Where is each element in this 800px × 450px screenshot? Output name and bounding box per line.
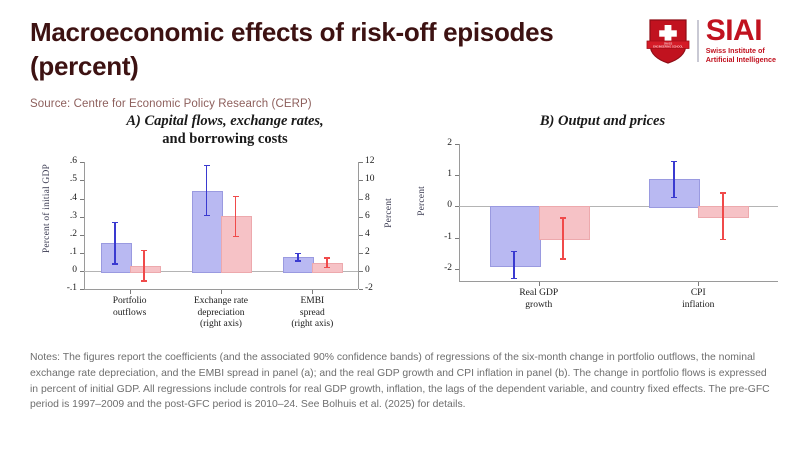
chart-b-title-text: B) Output and prices [540,113,665,129]
x-tick-mark [312,290,313,294]
ci-cap-bottom-pre-GFC-0 [511,278,517,280]
y-tick-right-label: 0 [365,265,370,275]
x-category-label: CPIinflation [628,288,768,311]
notes-text: Notes: The figures report the coefficien… [30,350,772,413]
y-tick-mark [455,269,459,270]
logo-wordmark: SIAI Swiss Institute of Artificial Intel… [706,17,776,64]
y-tick-mark [80,253,84,254]
ci-bar-post-GFC-1 [722,192,724,239]
ci-cap-bottom-post-GFC-1 [233,236,239,238]
x-category-label-line1: Real GDP [469,288,609,300]
swiss-shield-icon: SWISS ENGINEERING SCHOOL [646,17,690,65]
y-tick-mark [80,199,84,200]
y-tick-right-label: 8 [365,193,370,203]
ci-bar-post-GFC-1 [235,196,237,237]
ci-cap-top-pre-GFC-1 [671,161,677,163]
chart-b-plot-area: 210-1-2PercentReal GDPgrowthCPIinflation [415,136,790,321]
ci-cap-top-pre-GFC-0 [112,222,118,224]
bar-post-GFC-0 [539,206,590,240]
chart-a-title-line2: and borrowing costs [40,130,410,148]
y-tick-right-mark [359,180,363,181]
y-tick-right-mark [359,271,363,272]
logo-subtitle-line2: Artificial Intelligence [706,56,776,65]
y-tick-right-mark [359,217,363,218]
y-tick-label: -2 [415,263,452,273]
ci-cap-top-post-GFC-0 [141,250,147,252]
y-tick-mark [455,175,459,176]
ci-cap-top-post-GFC-1 [720,192,726,194]
y-tick-mark [80,235,84,236]
bar-pre-GFC-0 [101,243,132,273]
source-line: Source: Centre for Economic Policy Resea… [30,98,312,110]
x-category-label-line1: CPI [628,288,768,300]
x-tick-mark [221,290,222,294]
y-tick-mark [80,162,84,163]
logo-divider [697,20,699,62]
x-category-label-line2: inflation [628,300,768,312]
y-axis-title: Percent [417,186,427,216]
y-tick-right-label: 2 [365,247,370,257]
ci-bar-post-GFC-0 [562,217,564,259]
ci-bar-pre-GFC-1 [206,165,208,216]
bar-pre-GFC-2 [283,257,314,274]
y-tick-label: -.1 [40,283,77,293]
y-tick-right-label: 6 [365,211,370,221]
svg-text:ENGINEERING SCHOOL: ENGINEERING SCHOOL [653,44,683,48]
x-tick-mark [539,282,540,286]
ci-cap-top-pre-GFC-0 [511,251,517,253]
x-tick-mark [130,290,131,294]
ci-bar-pre-GFC-1 [673,161,675,198]
logo-subtitle: Swiss Institute of Artificial Intelligen… [706,47,776,65]
y-tick-mark [455,144,459,145]
ci-cap-top-post-GFC-2 [324,257,330,259]
bar-pre-GFC-1 [192,191,223,273]
y-tick-right-mark [359,253,363,254]
y-tick-label: 1 [415,169,452,179]
y-tick-label: -1 [415,232,452,242]
chart-a-title: A) Capital flows, exchange rates, and bo… [40,112,410,148]
ci-bar-pre-GFC-0 [114,222,116,264]
x-category-label: EMBIspread(right axis) [242,296,382,331]
ci-cap-bottom-post-GFC-2 [324,267,330,269]
y-axis-line [459,144,460,281]
chart-b-title: B) Output and prices [415,112,790,130]
x-category-label-line1: EMBI [242,296,382,308]
x-category-label-line3: (right axis) [242,319,382,331]
ci-bar-post-GFC-0 [143,250,145,281]
x-category-label-line2: growth [469,300,609,312]
chart-panel-a: A) Capital flows, exchange rates, and bo… [40,112,410,339]
page-title: Macroeconomic effects of risk-off episod… [30,16,590,84]
x-axis-line [459,281,778,282]
y-tick-label: 0 [40,265,77,275]
slide-root: Macroeconomic effects of risk-off episod… [0,0,800,450]
y-tick-right-label: -2 [365,283,373,293]
ci-cap-bottom-post-GFC-1 [720,239,726,241]
y-tick-right-label: 10 [365,174,375,184]
bar-pre-GFC-0 [490,206,541,267]
x-category-label: Real GDPgrowth [469,288,609,311]
y-tick-right-mark [359,199,363,200]
y-tick-right-mark [359,162,363,163]
ci-cap-top-post-GFC-1 [233,196,239,198]
y-tick-right-label: 12 [365,156,375,166]
x-tick-mark [698,282,699,286]
ci-cap-bottom-pre-GFC-1 [204,215,210,217]
y-tick-right-mark [359,289,363,290]
bar-post-GFC-0 [130,266,161,273]
y-axis-right-title: Percent [384,198,394,228]
logo-name: SIAI [706,17,776,45]
ci-cap-top-pre-GFC-1 [204,165,210,167]
y-tick-right-label: 4 [365,229,370,239]
chart-panel-b: B) Output and prices 210-1-2PercentReal … [415,112,790,321]
ci-cap-top-post-GFC-0 [560,217,566,219]
ci-cap-bottom-pre-GFC-1 [671,197,677,199]
y-axis-title: Percent of initial GDP [42,164,52,253]
siai-logo: SWISS ENGINEERING SCHOOL SIAI Swiss Inst… [646,13,776,69]
ci-bar-pre-GFC-0 [513,251,515,279]
chart-a-plot-area: .6.5.4.3.2.10-.1121086420-2PercentPercen… [40,154,410,339]
ci-cap-bottom-post-GFC-0 [560,258,566,260]
x-category-label-line2: spread [242,308,382,320]
y-tick-mark [80,180,84,181]
bar-post-GFC-1 [221,216,252,273]
y-tick-mark [80,289,84,290]
ci-cap-bottom-pre-GFC-2 [295,260,301,262]
ci-cap-top-pre-GFC-2 [295,253,301,255]
y-tick-mark [455,238,459,239]
ci-cap-bottom-post-GFC-0 [141,280,147,282]
ci-cap-bottom-pre-GFC-0 [112,263,118,265]
chart-a-title-line1: A) Capital flows, exchange rates, [126,113,323,129]
bar-post-GFC-1 [698,206,749,217]
y-tick-mark [80,217,84,218]
bar-pre-GFC-1 [649,179,700,208]
y-tick-right-mark [359,235,363,236]
y-tick-label: 2 [415,138,452,148]
